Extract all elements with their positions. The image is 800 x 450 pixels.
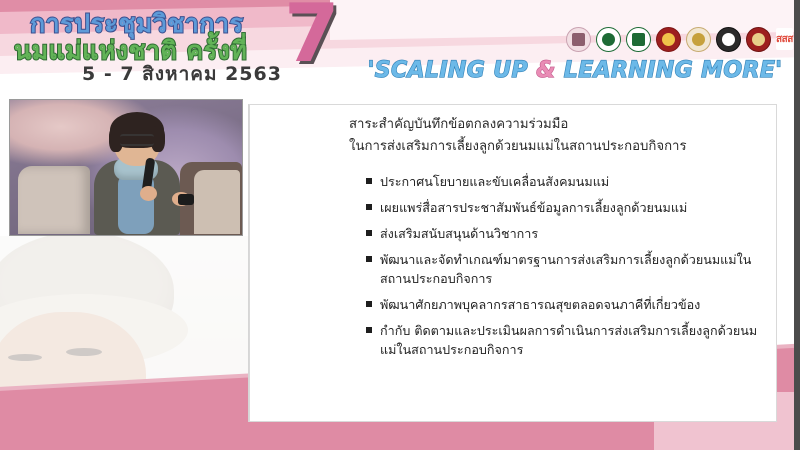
stage-chair-right-seat	[194, 170, 240, 234]
bullet-text: ประกาศนโยบายและขับเคลื่อนสังคมนมแม่	[380, 172, 609, 191]
logo-red-seal-icon	[746, 27, 771, 52]
logo-thaihealth-text: สสส	[776, 32, 793, 47]
list-item: ประกาศนโยบายและขับเคลื่อนสังคมนมแม่	[366, 172, 766, 191]
logo-department-of-health-icon	[626, 27, 651, 52]
content-heading-line2: ในการส่งเสริมการเลี้ยงลูกด้วยนมแม่ในสถาน…	[349, 136, 769, 158]
bullet-text: กำกับ ติดตามและประเมินผลการดำเนินการส่งเ…	[380, 321, 766, 359]
conference-edition-number: 7	[284, 0, 340, 74]
stage-chair-left	[18, 166, 90, 234]
slogan-part-close: LEARNING MORE'	[556, 58, 783, 83]
logo-thaihealth-sss-icon: สสส	[776, 28, 793, 50]
speaker-hand-mic	[140, 186, 157, 201]
bullet-square-icon	[366, 256, 372, 262]
child-eye-left	[8, 354, 42, 361]
bullet-square-icon	[366, 178, 372, 184]
content-bullet-list: ประกาศนโยบายและขับเคลื่อนสังคมนมแม่ เผยแ…	[366, 172, 766, 366]
bullet-text: เผยแพร่สื่อสารประชาสัมพันธ์ข้อมูลการเลี้…	[380, 198, 687, 217]
presentation-clicker-icon	[178, 194, 194, 205]
list-item: กำกับ ติดตามและประเมินผลการดำเนินการส่งเ…	[366, 321, 766, 359]
bullet-square-icon	[366, 327, 372, 333]
list-item: พัฒนาศักยภาพบุคลากรสาธารณสุขตลอดจนภาคีที…	[366, 295, 766, 314]
child-eye-right	[66, 348, 102, 356]
conference-slogan: 'SCALING UP & LEARNING MORE'	[360, 58, 790, 83]
speaker-video-thumbnail[interactable]	[10, 100, 242, 235]
logo-black-seal-icon	[716, 27, 741, 52]
logo-ministry-of-public-health-icon	[596, 27, 621, 52]
bullet-square-icon	[366, 204, 372, 210]
logo-royal-thai-emblem-icon	[656, 27, 681, 52]
bullet-square-icon	[366, 230, 372, 236]
speaker-glasses-icon	[120, 134, 154, 146]
bullet-square-icon	[366, 301, 372, 307]
presentation-slide: การประชุมวิชาการ นมแม่แห่งชาติ ครั้งที่ …	[0, 0, 800, 450]
slogan-ampersand: &	[536, 58, 556, 83]
content-heading-line1: สาระสำคัญบันทึกข้อตกลงความร่วมมือ	[349, 114, 769, 136]
conference-date-range: 5 - 7 สิงหาคม 2563	[82, 59, 282, 89]
panel-divider	[248, 104, 249, 422]
bullet-text: ส่งเสริมสนับสนุนด้านวิชาการ	[380, 224, 538, 243]
bullet-text: พัฒนาศักยภาพบุคลากรสาธารณสุขตลอดจนภาคีที…	[380, 295, 700, 314]
list-item: ส่งเสริมสนับสนุนด้านวิชาการ	[366, 224, 766, 243]
list-item: พัฒนาและจัดทำเกณฑ์มาตรฐานการส่งเสริมการเ…	[366, 250, 766, 288]
bullet-text: พัฒนาและจัดทำเกณฑ์มาตรฐานการส่งเสริมการเ…	[380, 250, 766, 288]
logo-royal-crown-icon	[686, 27, 711, 52]
list-item: เผยแพร่สื่อสารประชาสัมพันธ์ข้อมูลการเลี้…	[366, 198, 766, 217]
content-heading: สาระสำคัญบันทึกข้อตกลงความร่วมมือ ในการส…	[349, 114, 769, 158]
slogan-part-open: 'SCALING UP	[368, 58, 537, 83]
partner-logo-row: สสส	[566, 24, 792, 54]
logo-princess-mother-foundation-icon	[566, 27, 591, 52]
